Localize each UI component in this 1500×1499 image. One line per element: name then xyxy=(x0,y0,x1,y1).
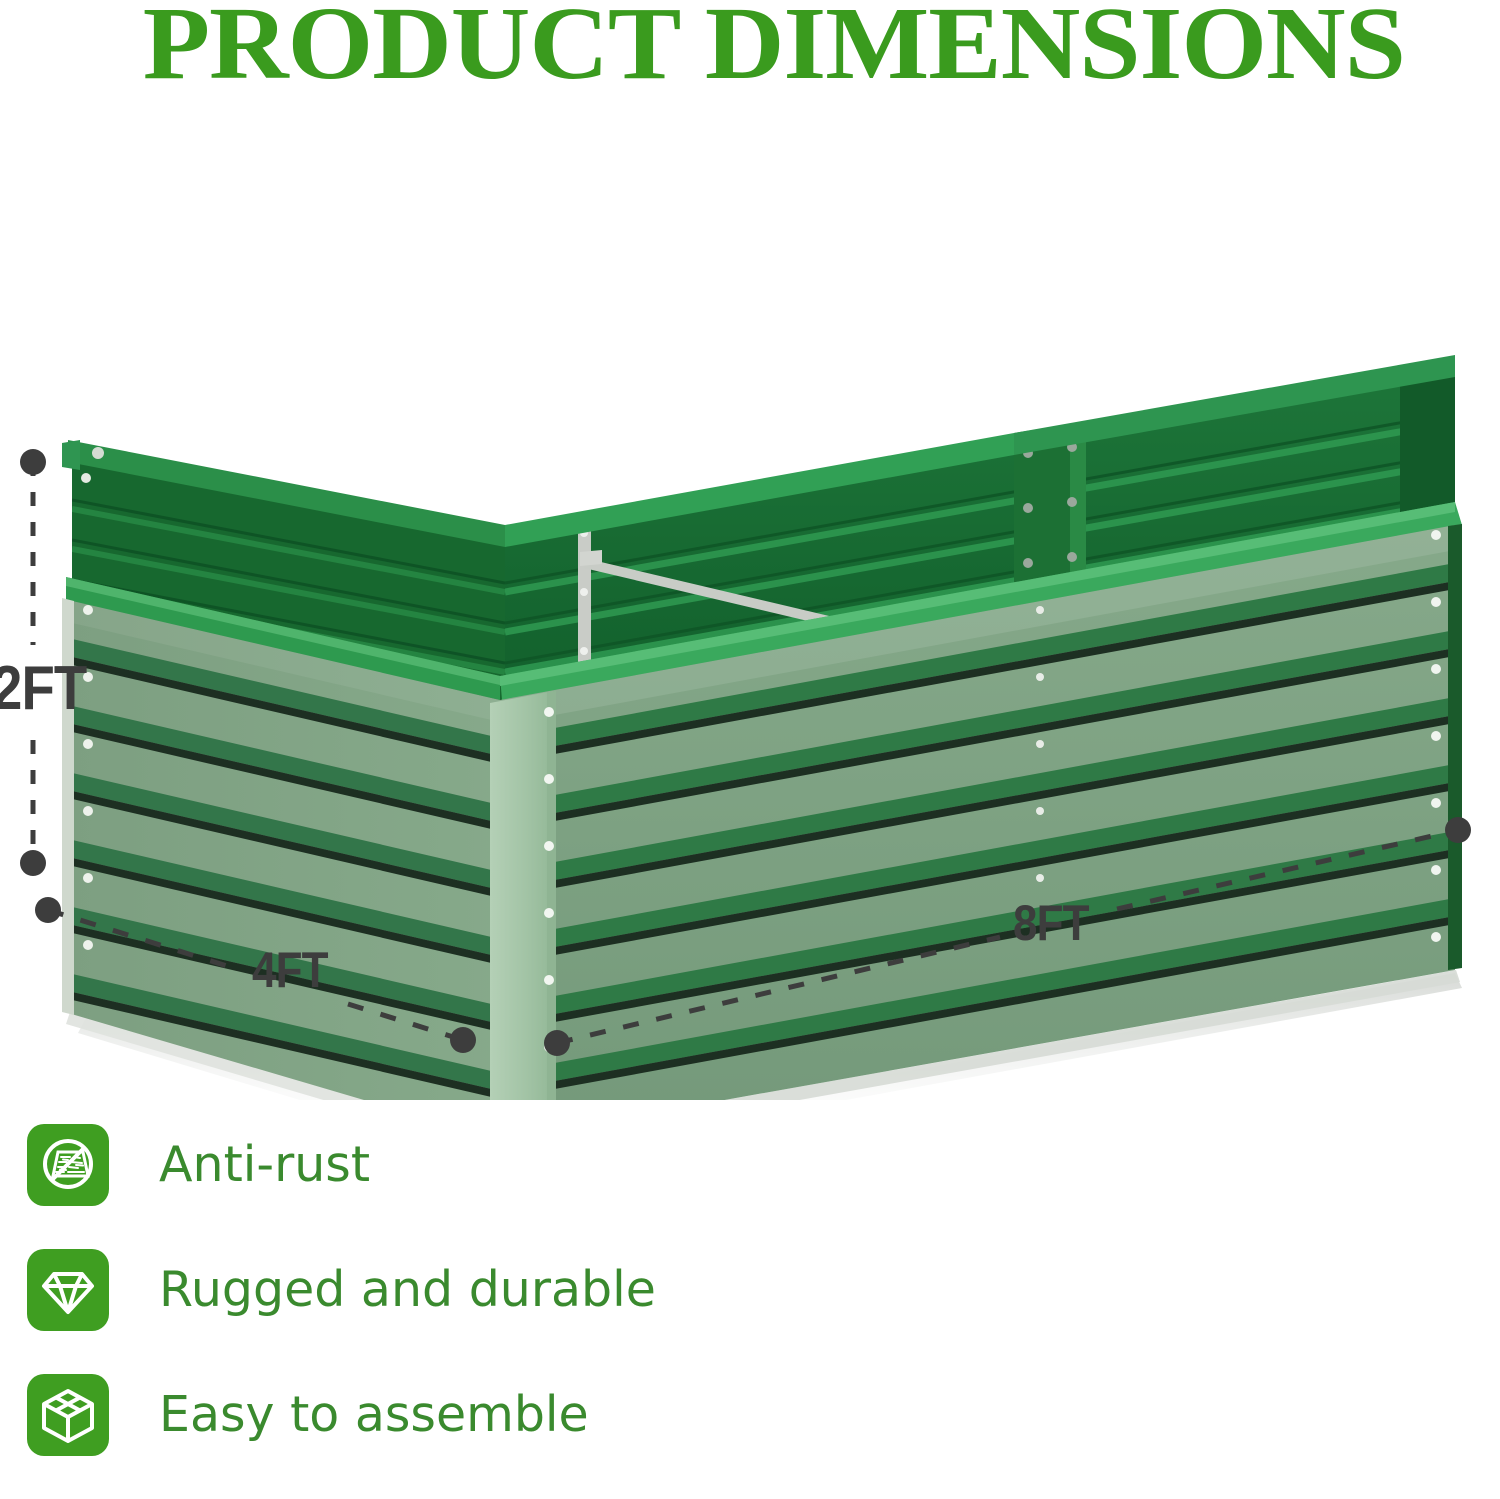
diamond-icon xyxy=(38,1260,98,1320)
anti-rust-icon-badge xyxy=(27,1124,109,1206)
diamond-icon-badge xyxy=(27,1249,109,1331)
feature-label-rugged-durable: Rugged and durable xyxy=(159,1263,656,1317)
feature-label-easy-assemble: Easy to assemble xyxy=(159,1388,589,1442)
feature-item-anti-rust: Anti-rust xyxy=(27,1124,927,1206)
anti-rust-icon xyxy=(38,1135,98,1195)
feature-label-anti-rust: Anti-rust xyxy=(159,1138,370,1192)
feature-item-easy-assemble: Easy to assemble xyxy=(27,1374,927,1456)
dimension-label-width: 4FT xyxy=(252,941,328,999)
page-title: PRODUCT DIMENSIONS xyxy=(0,0,1500,100)
assembly-cube-icon xyxy=(38,1385,98,1445)
feature-item-rugged-durable: Rugged and durable xyxy=(27,1249,927,1331)
product-illustration xyxy=(0,140,1500,1100)
dimension-label-length: 8FT xyxy=(1013,894,1089,952)
dimension-label-height: 2FT xyxy=(0,653,86,724)
feature-list: Anti-rust Rugged and durable xyxy=(27,1124,927,1499)
assembly-cube-icon-badge xyxy=(27,1374,109,1456)
